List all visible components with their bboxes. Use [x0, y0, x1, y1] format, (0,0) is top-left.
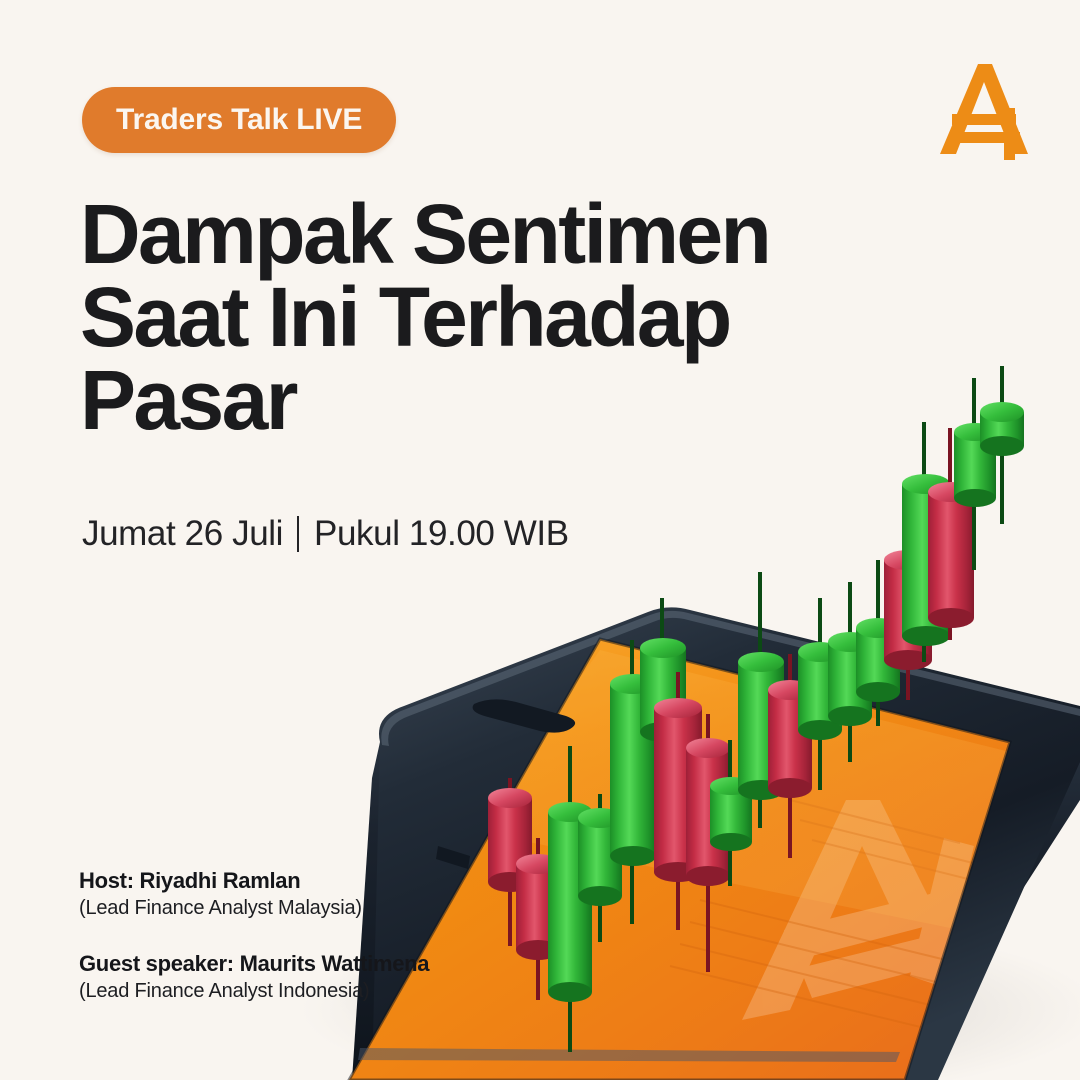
candle-9 [710, 740, 752, 886]
credits-block: Host: Riyadhi Ramlan (Lead Finance Analy… [79, 866, 599, 1005]
schedule-date: Jumat 26 Juli [82, 514, 283, 554]
candle-14 [856, 560, 900, 726]
candle-19 [980, 366, 1024, 524]
a-currency-logo-icon [932, 58, 1038, 162]
guest-name: Guest speaker: Maurits Wattimena [79, 949, 599, 978]
headline-line-3: Pasar [80, 359, 800, 442]
guest-credit: Guest speaker: Maurits Wattimena (Lead F… [79, 949, 599, 1006]
candle-17 [928, 428, 974, 640]
smartphone-mockup [349, 607, 1080, 1080]
page-title: Dampak Sentimen Saat Ini Terhadap Pasar [80, 193, 800, 442]
host-role: (Lead Finance Analyst Malaysia) [79, 895, 599, 923]
schedule-line: Jumat 26 Juli Pukul 19.00 WIB [82, 514, 569, 554]
headline-line-1: Dampak Sentimen [80, 193, 800, 276]
schedule-time: Pukul 19.00 WIB [314, 514, 569, 554]
promo-poster: Traders Talk LIVE Dampak Sentimen Saat I… [0, 0, 1080, 1080]
candle-10 [738, 572, 784, 828]
guest-role: (Lead Finance Analyst Indonesia) [79, 978, 599, 1006]
candle-18 [954, 378, 996, 570]
screen-logo-watermark-icon [742, 800, 974, 1020]
live-badge: Traders Talk LIVE [82, 87, 396, 153]
candle-13 [828, 582, 872, 762]
candle-11 [768, 654, 812, 858]
candle-6 [640, 598, 686, 764]
live-badge-label: Traders Talk LIVE [116, 103, 362, 137]
headline-line-2: Saat Ini Terhadap [80, 276, 800, 359]
host-credit: Host: Riyadhi Ramlan (Lead Finance Analy… [79, 866, 599, 923]
host-name: Host: Riyadhi Ramlan [79, 866, 599, 895]
candle-5 [610, 640, 656, 924]
candle-7 [654, 672, 702, 930]
candle-16 [902, 422, 950, 662]
schedule-separator-icon [297, 516, 299, 552]
candle-8 [686, 714, 730, 972]
candle-12 [798, 598, 842, 790]
candle-15 [884, 498, 932, 700]
